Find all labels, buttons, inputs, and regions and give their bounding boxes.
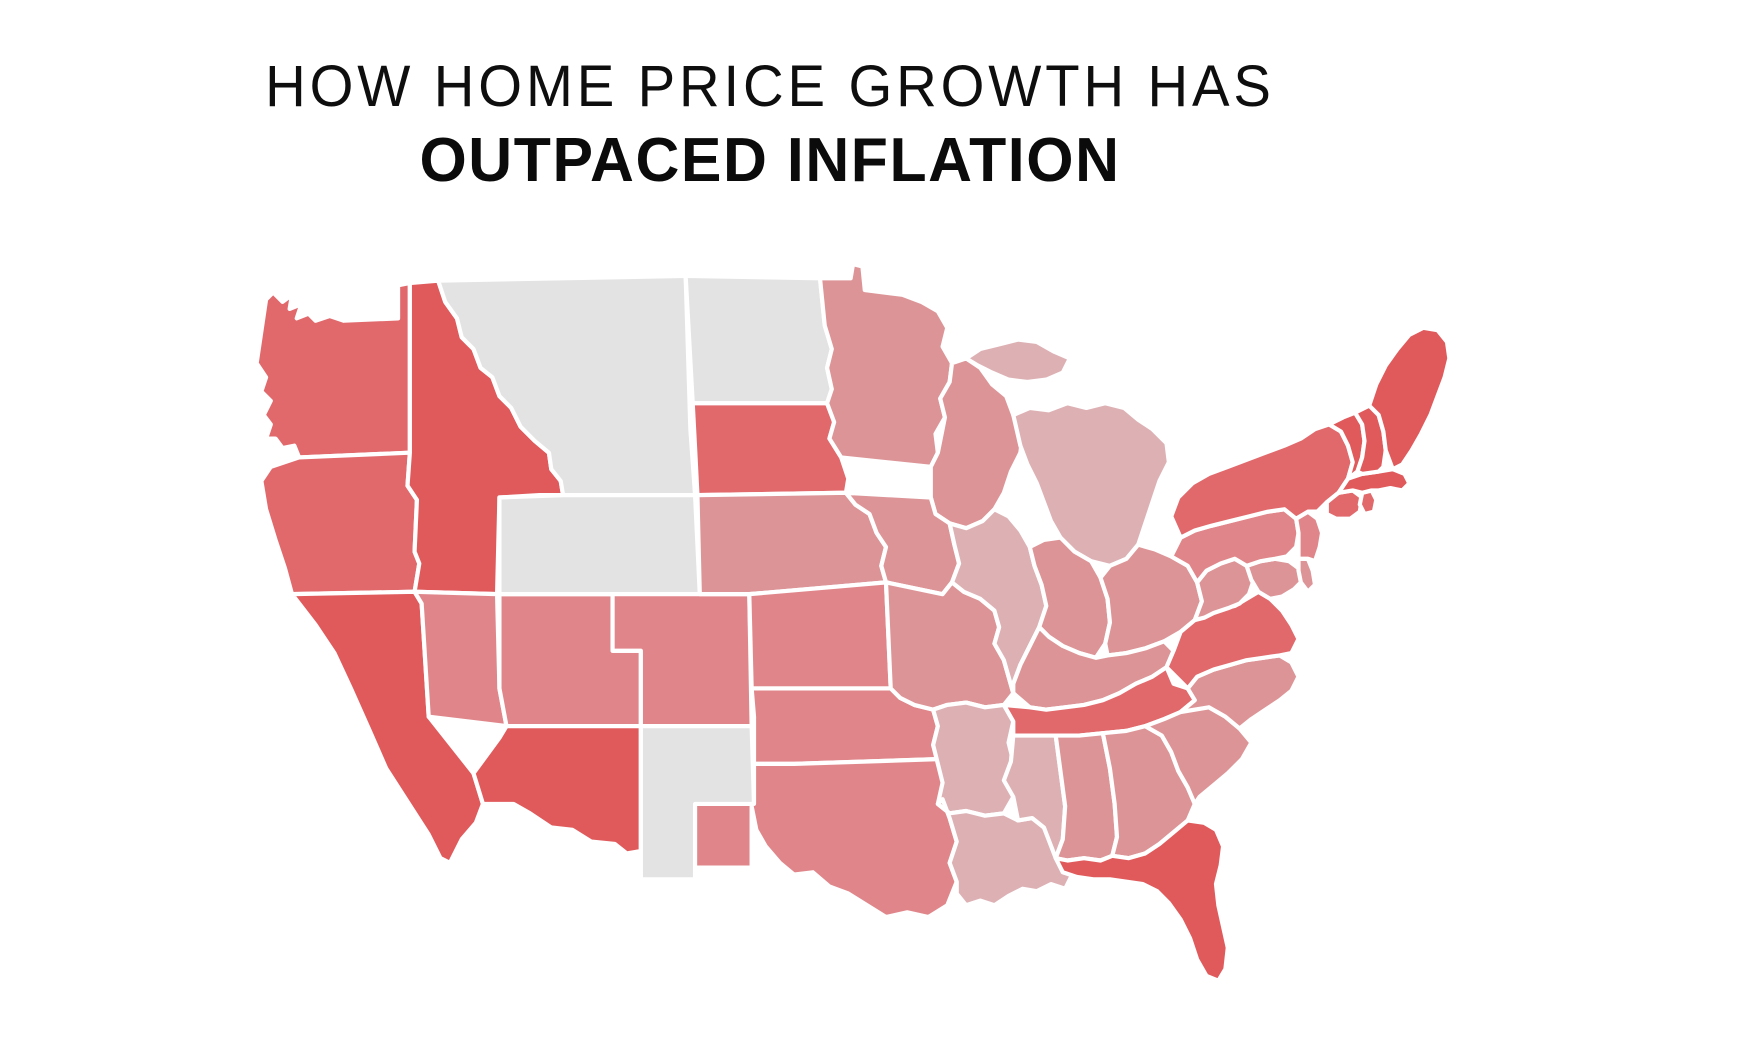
infographic-canvas: HOW HOME PRICE GROWTH HAS OUTPACED INFLA… bbox=[0, 0, 1763, 1058]
state-arkansas[interactable] bbox=[933, 703, 1013, 816]
state-nevada[interactable] bbox=[415, 592, 507, 726]
state-delaware[interactable] bbox=[1299, 559, 1316, 592]
page-title: HOW HOME PRICE GROWTH HAS OUTPACED INFLA… bbox=[0, 52, 1540, 198]
state-wyoming[interactable] bbox=[499, 495, 699, 594]
title-line-2: OUTPACED INFLATION bbox=[15, 124, 1524, 198]
us-choropleth-map bbox=[210, 250, 1430, 910]
state-minnesota[interactable] bbox=[820, 264, 952, 467]
state-arizona[interactable] bbox=[474, 726, 641, 853]
state-north-dakota[interactable] bbox=[686, 276, 832, 403]
state-kansas[interactable] bbox=[749, 582, 890, 688]
title-line-1: HOW HOME PRICE GROWTH HAS bbox=[23, 52, 1517, 122]
state-washington[interactable] bbox=[257, 283, 410, 457]
state-new-jersey[interactable] bbox=[1296, 512, 1322, 561]
state-south-dakota[interactable] bbox=[693, 403, 849, 495]
state-oregon[interactable] bbox=[261, 453, 419, 594]
map-svg bbox=[210, 250, 1430, 910]
